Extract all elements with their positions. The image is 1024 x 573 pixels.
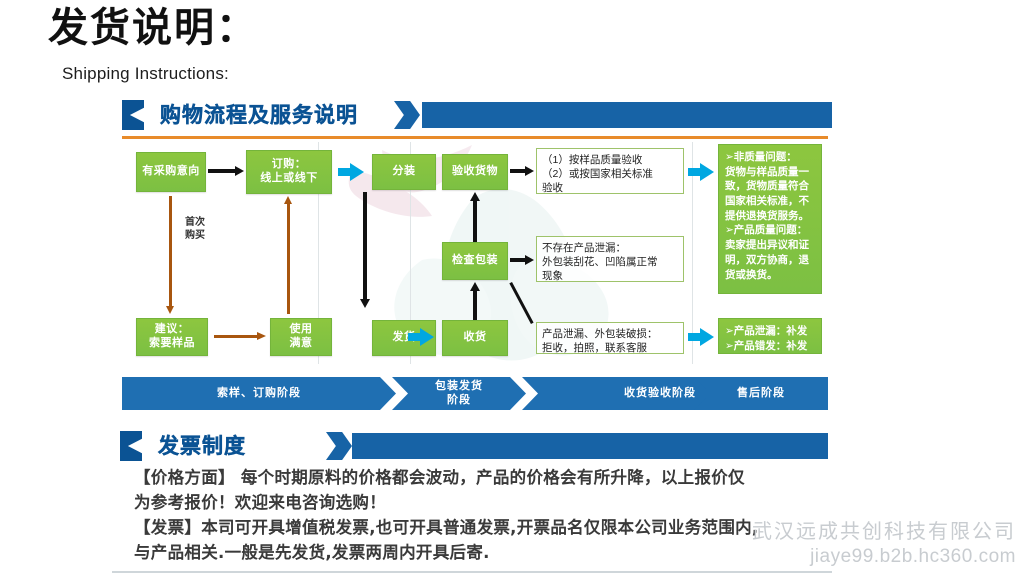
note-leak-damage: 产品泄漏、外包装破损： 拒收，拍照，联系客服: [536, 322, 684, 354]
stage-sample-order: 索样、订购阶段: [122, 377, 396, 410]
invoice-line: 【价格方面】 每个时期原料的价格都会波动，产品的价格会有所升降，以上报价仅: [134, 465, 832, 490]
arrow-first-purchase-down: [166, 196, 175, 314]
invoice-line: 【发票】本司可开具增值税发票,也可开具普通发票,开票品名仅限本公司业务范围内,: [134, 515, 832, 540]
banner-shopping-process: 购物流程及服务说明: [122, 100, 828, 130]
invoice-line: 与产品相关.一般是先发货,发票两周内开具后寄.: [134, 540, 832, 565]
orange-divider: [122, 136, 828, 139]
arrow-check-to-inspect: [470, 192, 480, 242]
chevron-left-icon: [120, 431, 142, 461]
chevron-right-icon: [394, 101, 420, 129]
flow-diagram: 有采购意向 订购： 线上或线下 分装 验收货物 （1）按样品质量验收 （2）或按…: [122, 142, 828, 378]
arrow-receive-to-check: [470, 282, 480, 322]
note-no-leak: 不存在产品泄漏： 外包装刮花、凹陷属正常 现象: [536, 236, 684, 282]
invoice-policy-text: 【价格方面】 每个时期原料的价格都会波动，产品的价格会有所升降，以上报价仅 为参…: [134, 465, 832, 565]
label-first-purchase: 首次 购买: [178, 216, 212, 242]
shipping-instructions-graphic: 购物流程及服务说明 有采购意向 订购： 线上或线下 分装 验收货物 （1）按样品…: [112, 92, 832, 573]
arrow-check-to-note: [510, 255, 534, 265]
banner-bar: [422, 102, 832, 128]
arrow-packing-down: [360, 192, 370, 308]
note-reship-policy: ➢产品泄漏：补发 ➢产品错发：补发: [718, 318, 822, 354]
banner-title-invoice-policy: 发票制度: [158, 430, 246, 460]
diagonal-connector: [509, 282, 533, 324]
box-use-satisfied: 使用 满意: [270, 318, 332, 356]
arrow-to-reship-note: [688, 328, 714, 346]
stage-packing-shipping: 包装发货 阶段: [392, 377, 526, 410]
note-quality-policy: ➢非质量问题： 货物与样品质量一致，货物质量符合国家相关标准，不提供退换货服务。…: [718, 144, 822, 294]
page-title: 发货说明：: [48, 2, 258, 54]
note-acceptance-criteria: （1）按样品质量验收 （2）或按国家相关标准 验收: [536, 148, 684, 194]
invoice-line: 为参考报价！欢迎来电咨询选购！: [134, 490, 832, 515]
box-packing: 分装: [372, 154, 436, 190]
chevron-right-icon: [326, 432, 352, 460]
box-purchase-intent: 有采购意向: [136, 152, 206, 192]
arrow-to-aftersales-note: [688, 163, 714, 181]
box-order: 订购： 线上或线下: [246, 150, 332, 194]
banner-bar: [352, 433, 828, 459]
banner-invoice-policy: 发票制度: [120, 431, 828, 461]
arrow-inspect-to-note: [510, 166, 534, 176]
box-suggest-sample: 建议： 索要样品: [136, 318, 208, 356]
stage-after-sales: 售后阶段: [694, 377, 828, 410]
arrow-ship-to-receive: [408, 328, 434, 346]
chevron-left-icon: [122, 100, 144, 130]
box-inspect-goods: 验收货物: [442, 154, 508, 190]
arrow-intent-to-order: [208, 166, 244, 176]
stage-progress-bar: 索样、订购阶段 包装发货 阶段 收货验收阶段 售后阶段: [122, 377, 828, 410]
arrow-sample-back-up: [284, 196, 293, 314]
arrow-sample-to-satisfied: [214, 332, 266, 341]
page-subtitle: Shipping Instructions:: [62, 64, 229, 84]
box-check-package: 检查包装: [442, 242, 508, 280]
arrow-order-to-packing: [338, 163, 364, 181]
banner-title-shopping-process: 购物流程及服务说明: [160, 99, 358, 129]
box-receive: 收货: [442, 320, 508, 356]
